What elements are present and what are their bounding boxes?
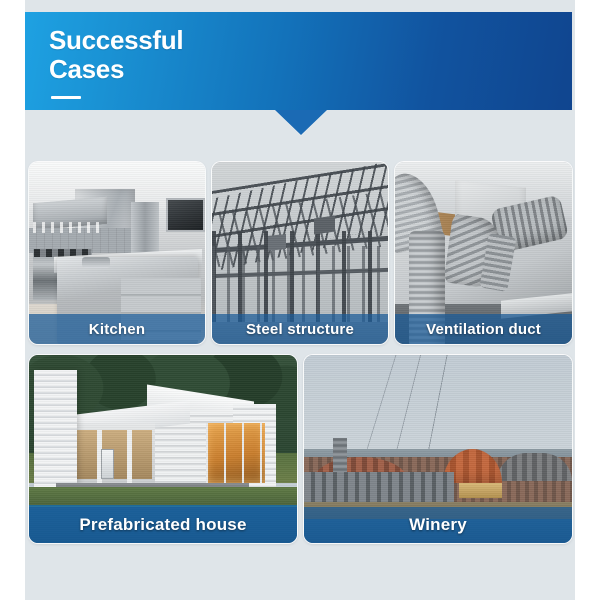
- banner-pointer-arrow-icon: [275, 110, 327, 135]
- page-title: Successful Cases: [49, 26, 183, 84]
- case-card-prefabricated-house[interactable]: Prefabricated house: [29, 355, 297, 543]
- case-label-winery: Winery: [304, 507, 572, 543]
- case-label-prefabricated-house: Prefabricated house: [29, 507, 297, 543]
- section-header-banner: Successful Cases: [25, 12, 572, 110]
- case-card-winery[interactable]: Winery: [304, 355, 572, 543]
- case-label-ventilation-duct: Ventilation duct: [395, 314, 572, 344]
- successful-cases-page: Successful Cases Kitchen: [0, 0, 600, 600]
- case-card-steel-structure[interactable]: Steel structure: [212, 162, 388, 344]
- case-label-kitchen: Kitchen: [29, 314, 205, 344]
- title-underline-rule: [51, 96, 81, 99]
- case-card-ventilation-duct[interactable]: Ventilation duct: [395, 162, 572, 344]
- case-card-kitchen[interactable]: Kitchen: [29, 162, 205, 344]
- case-label-steel-structure: Steel structure: [212, 314, 388, 344]
